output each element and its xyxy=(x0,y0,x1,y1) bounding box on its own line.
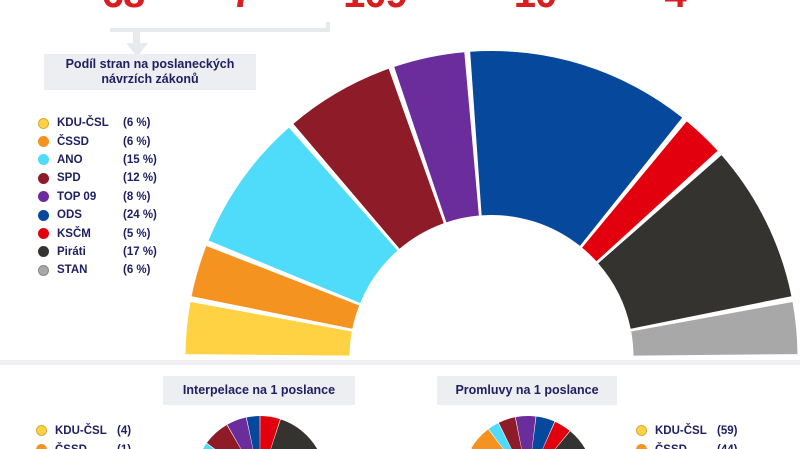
headline-number: 109 xyxy=(320,0,430,16)
legend-color-swatch-icon xyxy=(38,118,49,129)
legend-party-value: (6 %) xyxy=(123,117,150,129)
legend-party-value: (15 %) xyxy=(123,154,157,166)
legend-item: KDU-ČSL(4) xyxy=(36,421,131,440)
legend-color-swatch-icon xyxy=(38,210,49,221)
legend-party-name: KSČM xyxy=(57,228,123,240)
right-sub-title-chip: Promluvy na 1 poslance xyxy=(437,376,617,405)
legend-item: ČSSD(6 %) xyxy=(38,132,157,150)
legend-party-name: Piráti xyxy=(57,246,123,258)
legend-party-name: KDU-ČSL xyxy=(57,117,123,129)
legend-color-swatch-icon xyxy=(38,173,49,184)
legend-color-swatch-icon xyxy=(36,425,47,436)
legend-party-name: ODS xyxy=(57,209,123,221)
legend-color-swatch-icon xyxy=(38,136,49,147)
headline-number: 4 xyxy=(655,0,695,16)
headline-number: 7 xyxy=(222,0,262,16)
legend-party-value: (59) xyxy=(717,425,737,437)
legend-item: KSČM(5 %) xyxy=(38,224,157,242)
legend-party-name: ČSSD xyxy=(55,444,117,449)
legend-color-swatch-icon xyxy=(38,228,49,239)
legend-party-value: (12 %) xyxy=(123,172,157,184)
legend-item: STAN(6 %) xyxy=(38,261,157,279)
left-sub-legend: KDU-ČSL(4)ČSSD(1) xyxy=(36,421,131,449)
legend-party-name: SPD xyxy=(57,172,123,184)
legend-color-swatch-icon xyxy=(36,444,47,449)
donut-slice xyxy=(470,51,682,246)
right-sub-legend: KDU-ČSL(59)ČSSD(44) xyxy=(636,421,737,449)
left-sub-semicircle-donut-chart xyxy=(194,414,326,449)
legend-item: Piráti(17 %) xyxy=(38,243,157,261)
legend-party-name: TOP 09 xyxy=(57,191,123,203)
legend-item: SPD(12 %) xyxy=(38,169,157,187)
legend-item: ČSSD(1) xyxy=(36,440,131,449)
main-semicircle-donut-chart xyxy=(183,50,800,362)
legend-item: KDU-ČSL(59) xyxy=(636,421,737,440)
legend-color-swatch-icon xyxy=(636,425,647,436)
headline-number: 68 xyxy=(78,0,168,16)
headline-numbers: 687109104 xyxy=(0,0,800,16)
legend-party-name: KDU-ČSL xyxy=(655,425,717,437)
arrow-stem xyxy=(133,28,140,44)
legend-party-value: (6 %) xyxy=(123,264,150,276)
legend-color-swatch-icon xyxy=(38,191,49,202)
legend-party-value: (24 %) xyxy=(123,209,157,221)
bracket-connector xyxy=(110,22,330,32)
legend-party-value: (5 %) xyxy=(123,228,150,240)
headline-number: 10 xyxy=(500,0,570,16)
legend-party-value: (1) xyxy=(117,444,131,449)
legend-party-name: ČSSD xyxy=(57,136,123,148)
legend-party-name: STAN xyxy=(57,264,123,276)
left-sub-title: Interpelace na 1 poslance xyxy=(183,383,335,398)
legend-color-swatch-icon xyxy=(38,265,49,276)
legend-party-value: (4) xyxy=(117,425,131,437)
legend-item: ODS(24 %) xyxy=(38,206,157,224)
section-divider xyxy=(0,360,800,365)
legend-color-swatch-icon xyxy=(38,154,49,165)
legend-item: KDU-ČSL(6 %) xyxy=(38,114,157,132)
legend-color-swatch-icon xyxy=(38,246,49,257)
legend-item: TOP 09(8 %) xyxy=(38,188,157,206)
right-sub-title: Promluvy na 1 poslance xyxy=(455,383,598,398)
legend-item: ANO(15 %) xyxy=(38,151,157,169)
main-legend: KDU-ČSL(6 %)ČSSD(6 %)ANO(15 %)SPD(12 %)T… xyxy=(38,114,157,280)
legend-party-value: (44) xyxy=(717,444,737,449)
legend-party-value: (17 %) xyxy=(123,246,157,258)
left-sub-title-chip: Interpelace na 1 poslance xyxy=(163,376,355,405)
right-sub-semicircle-donut-chart xyxy=(462,414,594,449)
legend-party-value: (8 %) xyxy=(123,191,150,203)
legend-party-name: KDU-ČSL xyxy=(55,425,117,437)
infographic-canvas: 687109104 Podíl stran na poslaneckých ná… xyxy=(0,0,800,449)
legend-party-name: ANO xyxy=(57,154,123,166)
legend-item: ČSSD(44) xyxy=(636,440,737,449)
legend-party-name: ČSSD xyxy=(655,444,717,449)
legend-party-value: (6 %) xyxy=(123,136,150,148)
legend-color-swatch-icon xyxy=(636,444,647,449)
